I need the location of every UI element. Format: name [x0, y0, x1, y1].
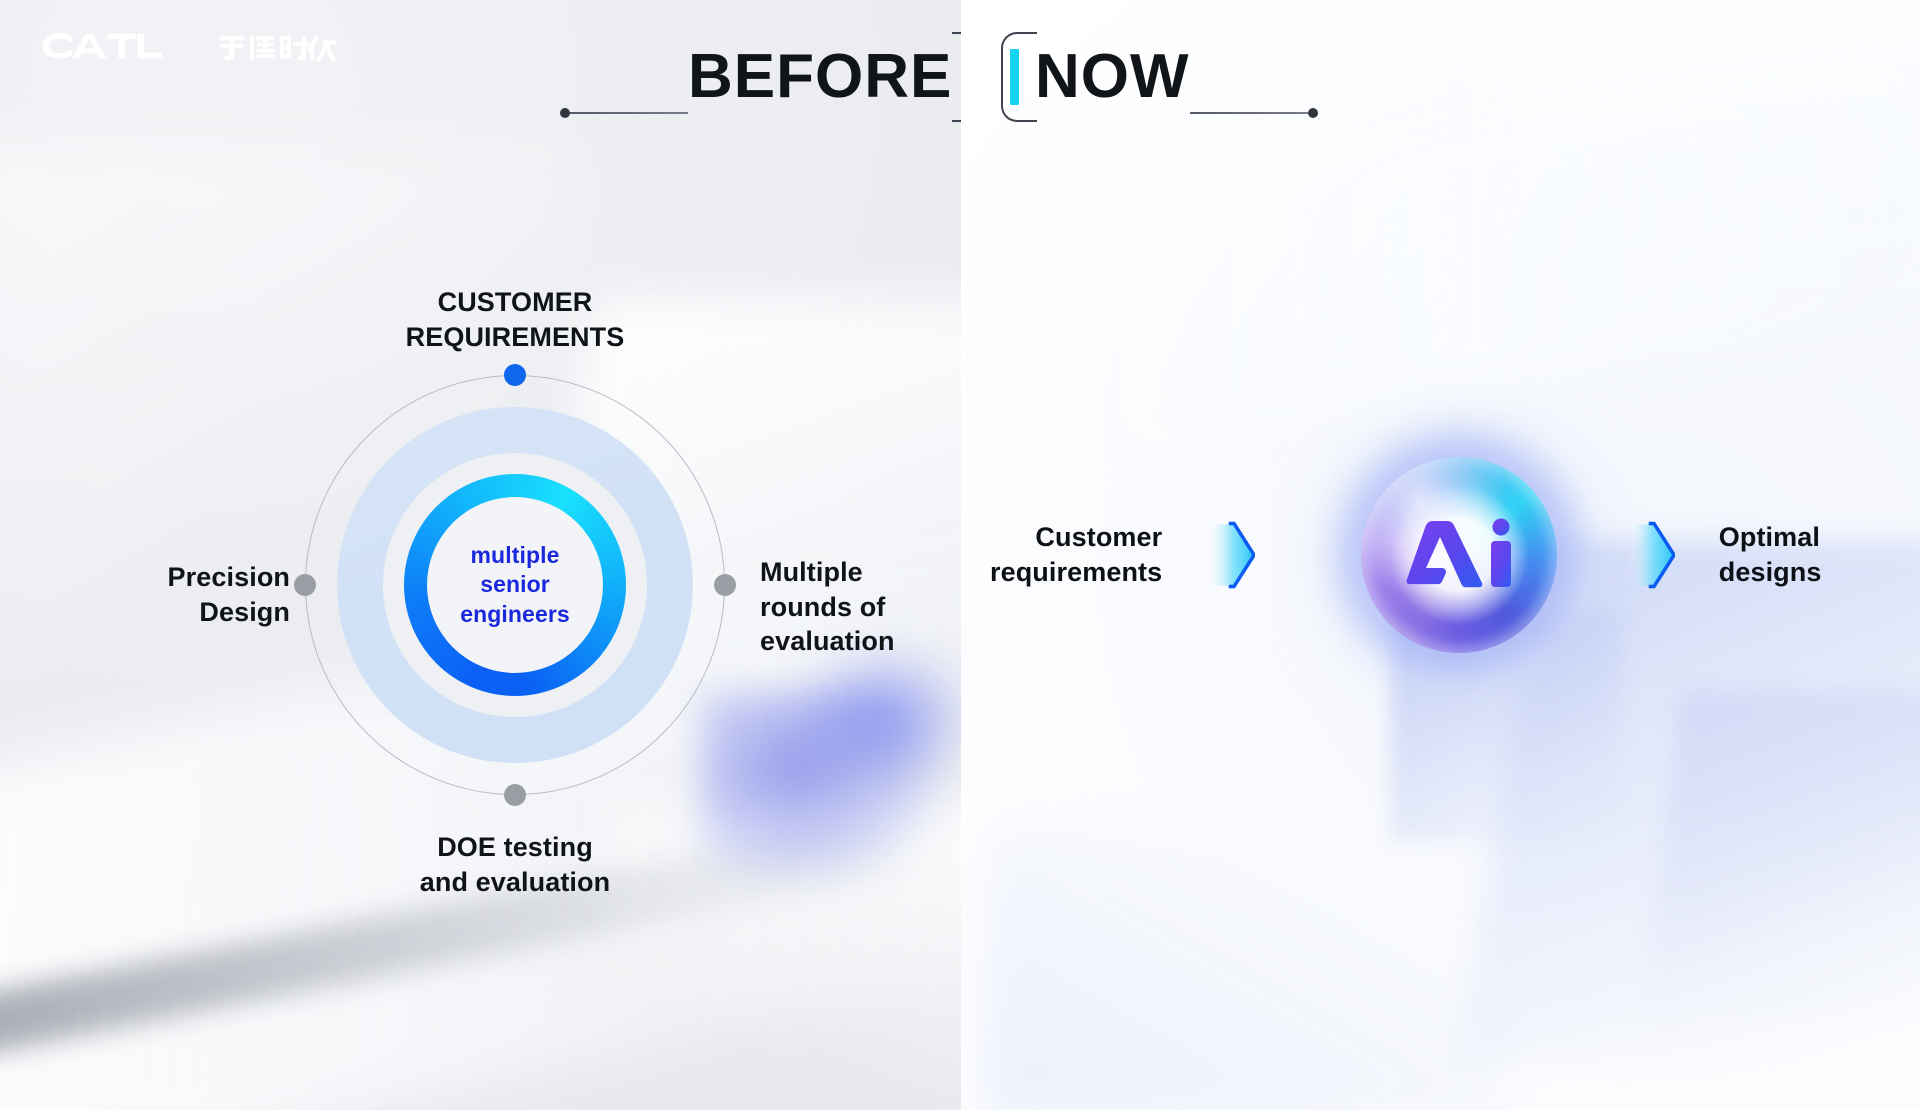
now-header-tail: [1190, 32, 1318, 122]
comparison-slide: BEFORE CUSTOMER REQUIREMENTS Precision D…: [0, 0, 1920, 1110]
before-header-bracket-icon: [952, 32, 961, 122]
diagram-center-text: multiple senior engineers: [460, 541, 570, 629]
diagram-label-right: Multiple rounds of evaluation: [760, 555, 961, 659]
catl-wordmark-icon: [40, 30, 200, 66]
before-header-tail: [560, 32, 688, 122]
diagram-label-bottom-line1: DOE testing: [285, 830, 745, 865]
chevron-right-icon-output: [1626, 516, 1675, 594]
before-header-line: [570, 112, 688, 114]
now-header-line: [1190, 112, 1308, 114]
center-text-line3: engineers: [460, 600, 570, 629]
background-shape: [790, 640, 961, 790]
diagram-label-left-line1: Precision: [20, 560, 290, 595]
flow-output-label: Optimal designs: [1719, 520, 1920, 589]
diagram-label-bottom-line2: and evaluation: [285, 865, 745, 900]
flow-input-label: Customer requirements: [961, 520, 1162, 589]
diagram-label-left: Precision Design: [20, 560, 290, 629]
ai-orb: [1309, 405, 1572, 705]
flow-output-line1: Optimal: [1719, 520, 1920, 555]
now-header: NOW: [1001, 32, 1318, 122]
diagram-node-left[interactable]: [294, 574, 316, 596]
catl-chinese-wordmark-icon: [218, 33, 336, 63]
diagram-label-top-line2: REQUIREMENTS: [305, 320, 725, 355]
now-header-label: NOW: [1035, 46, 1190, 108]
catl-logo: [40, 30, 336, 66]
diagram-node-top[interactable]: [504, 364, 526, 386]
chevron-right-icon-input: [1206, 516, 1255, 594]
before-panel: BEFORE CUSTOMER REQUIREMENTS Precision D…: [0, 0, 961, 1110]
diagram-label-left-line2: Design: [20, 595, 290, 630]
diagram-label-bottom: DOE testing and evaluation: [285, 830, 745, 899]
flow-input-line1: Customer: [961, 520, 1162, 555]
now-header-dot: [1308, 108, 1318, 118]
ai-flow: Customer requirements: [961, 0, 1920, 1110]
diagram-label-right-line1: Multiple: [760, 555, 961, 590]
center-text-line1: multiple: [460, 541, 570, 570]
before-header-label: BEFORE: [688, 46, 952, 108]
diagram-node-bottom[interactable]: [504, 784, 526, 806]
diagram-center: multiple senior engineers: [427, 497, 603, 673]
before-header-dot: [560, 108, 570, 118]
flow-output-line2: designs: [1719, 555, 1920, 590]
now-header-bracket-icon: [1001, 32, 1035, 122]
center-text-line2: senior: [460, 570, 570, 599]
diagram-label-top: CUSTOMER REQUIREMENTS: [305, 285, 725, 354]
before-header: BEFORE: [560, 32, 961, 122]
ai-logo-icon: [1309, 405, 1609, 705]
diagram-label-right-line3: evaluation: [760, 624, 961, 659]
diagram-label-right-line2: rounds of: [760, 590, 961, 625]
flow-input-line2: requirements: [961, 555, 1162, 590]
process-circle-diagram: multiple senior engineers: [305, 375, 725, 795]
diagram-label-top-line1: CUSTOMER: [305, 285, 725, 320]
diagram-node-right[interactable]: [714, 574, 736, 596]
now-panel: NOW Customer requirements: [961, 0, 1920, 1110]
